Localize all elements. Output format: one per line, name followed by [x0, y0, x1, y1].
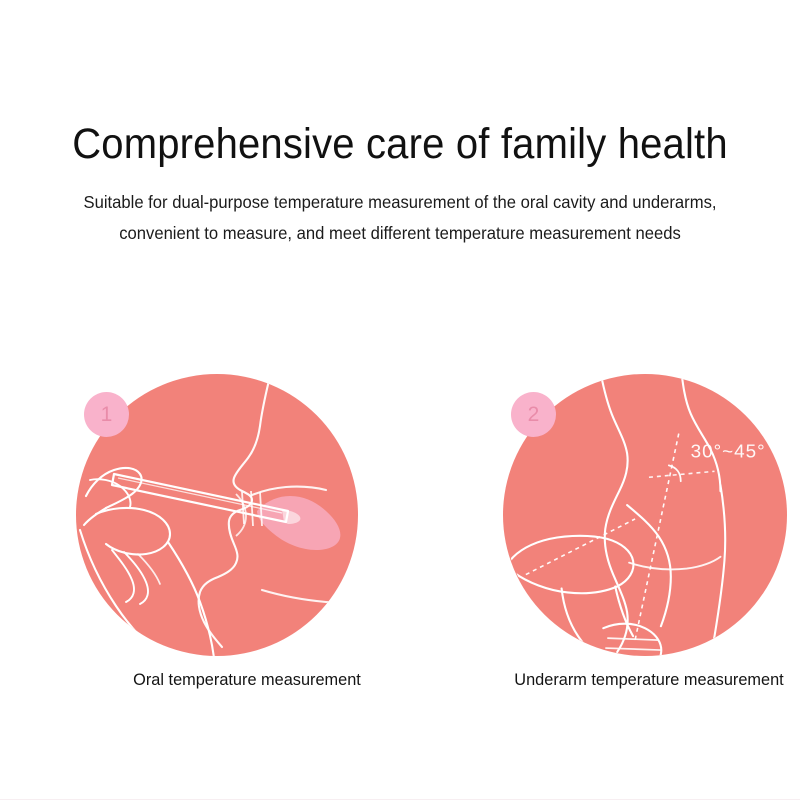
- illustration-panels: 1 Oral temperature measurement: [0, 372, 800, 712]
- subtitle-line-1: Suitable for dual-purpose temperature me…: [20, 187, 780, 218]
- page-title: Comprehensive care of family health: [28, 118, 772, 170]
- subtitle-line-2: convenient to measure, and meet differen…: [20, 218, 780, 249]
- step-badge-2: 2: [511, 392, 556, 437]
- step-badge-1: 1: [84, 392, 129, 437]
- oral-illustration-circle: 1: [76, 374, 358, 656]
- panel-oral: 1 Oral temperature measurement: [76, 372, 366, 712]
- page-subtitle: Suitable for dual-purpose temperature me…: [20, 187, 780, 249]
- infographic-page: Comprehensive care of family health Suit…: [0, 0, 800, 800]
- header: Comprehensive care of family health Suit…: [0, 118, 800, 249]
- caption-underarm: Underarm temperature measurement: [505, 670, 793, 690]
- step-badge-1-number: 1: [101, 404, 113, 425]
- angle-annotation-label: 30°~45°: [691, 440, 766, 461]
- underarm-illustration-circle: 30°~45° 2: [503, 374, 787, 656]
- panel-underarm: 30°~45° 2 Underarm temperature measureme…: [503, 372, 793, 712]
- caption-oral: Oral temperature measurement: [108, 670, 386, 690]
- step-badge-2-number: 2: [528, 404, 540, 425]
